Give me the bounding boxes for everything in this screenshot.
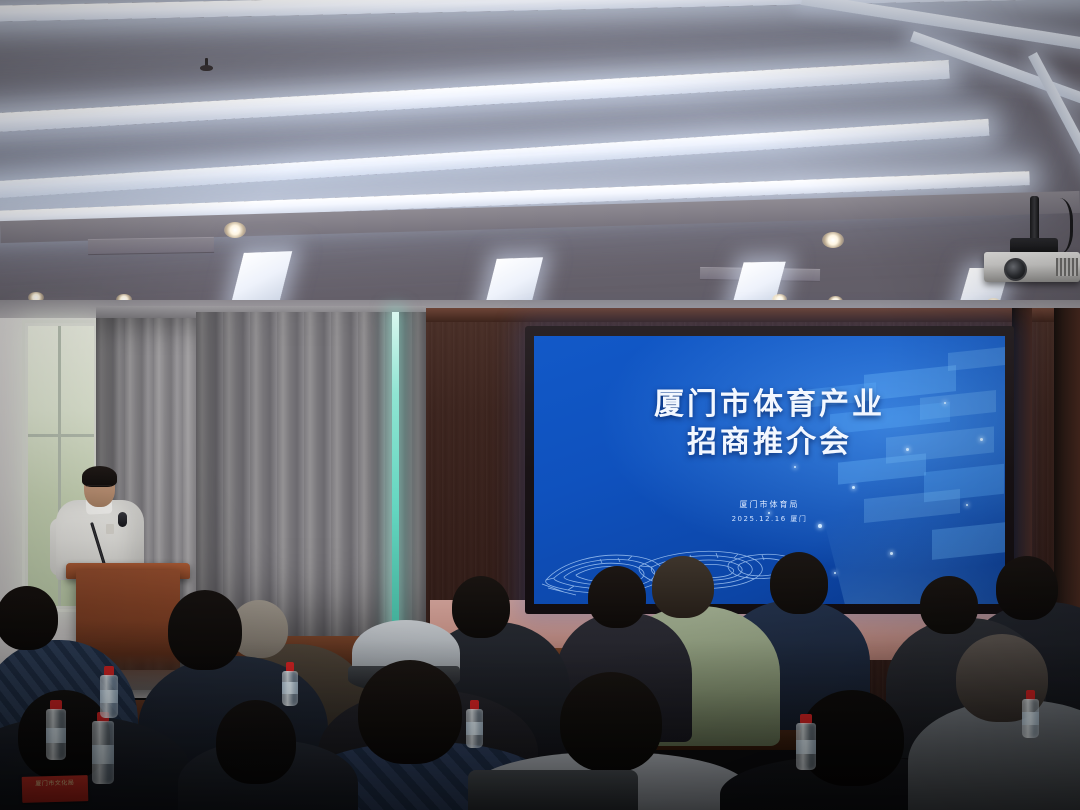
ceiling-light-strip [1028,52,1080,198]
audience-head [452,576,510,638]
presenter-badge [106,524,114,534]
water-bottle [1022,690,1039,738]
water-bottle [796,714,816,770]
presenter-glasses-icon [86,485,112,492]
audience-head [216,700,296,784]
projector-lens-icon [1004,258,1027,281]
slide-title: 厦门市体育产业 招商推介会 [534,386,1005,462]
audience-head [996,556,1058,620]
water-bottle [466,700,483,748]
wood-trim [398,308,1080,322]
sprinkler-head-icon [200,58,213,74]
presentation-screen[interactable]: 厦门市体育产业 招商推介会 厦门市体育局 2025.12.16 厦门 [534,336,1005,604]
bottle-label [282,682,298,693]
downlight [224,222,246,238]
conference-room-photo: 厦门市体育产业 招商推介会 厦门市体育局 2025.12.16 厦门 [0,0,1080,810]
bottle-label [46,728,66,744]
audience-head [920,576,978,634]
delegate-name-card: 厦门市文化局 [22,775,89,803]
slide-sparkle [852,486,855,489]
chair-back [468,770,638,810]
projector-vent [1056,258,1078,276]
ceiling [0,0,1080,332]
projector-mount-pole [1030,196,1039,242]
presenter-hair [82,466,117,487]
ceiling-light-strip [0,60,950,135]
audience-head [652,556,714,618]
air-vent [88,237,214,255]
water-bottle [46,700,66,760]
audience-head [770,552,828,614]
name-card-text: 厦门市文化局 [22,775,88,789]
accent-light-strip [392,312,399,642]
audience-head [588,566,646,628]
bottle-label [466,722,483,734]
slide-organization: 厦门市体育局 [534,499,1005,510]
audience-head [560,672,662,772]
slide-block [948,347,1005,371]
downlight [822,232,844,248]
bottle-label [796,740,816,755]
water-bottle [282,662,298,706]
slide-sparkle [794,466,796,468]
microphone-icon [118,512,127,527]
audience-head [358,660,462,764]
audience-head [168,590,242,670]
audience-head [0,586,58,650]
slide-title-line1: 厦门市体育产业 [654,387,885,422]
water-bottle [92,712,114,784]
bottle-label [1022,712,1039,724]
water-bottle [100,666,118,718]
slide-date-location: 2025.12.16 厦门 [534,514,1005,524]
bottle-label [92,745,114,764]
slide-title-line2: 招商推介会 [534,424,1005,462]
bottle-label [100,690,118,704]
slide-sparkle [890,552,893,555]
